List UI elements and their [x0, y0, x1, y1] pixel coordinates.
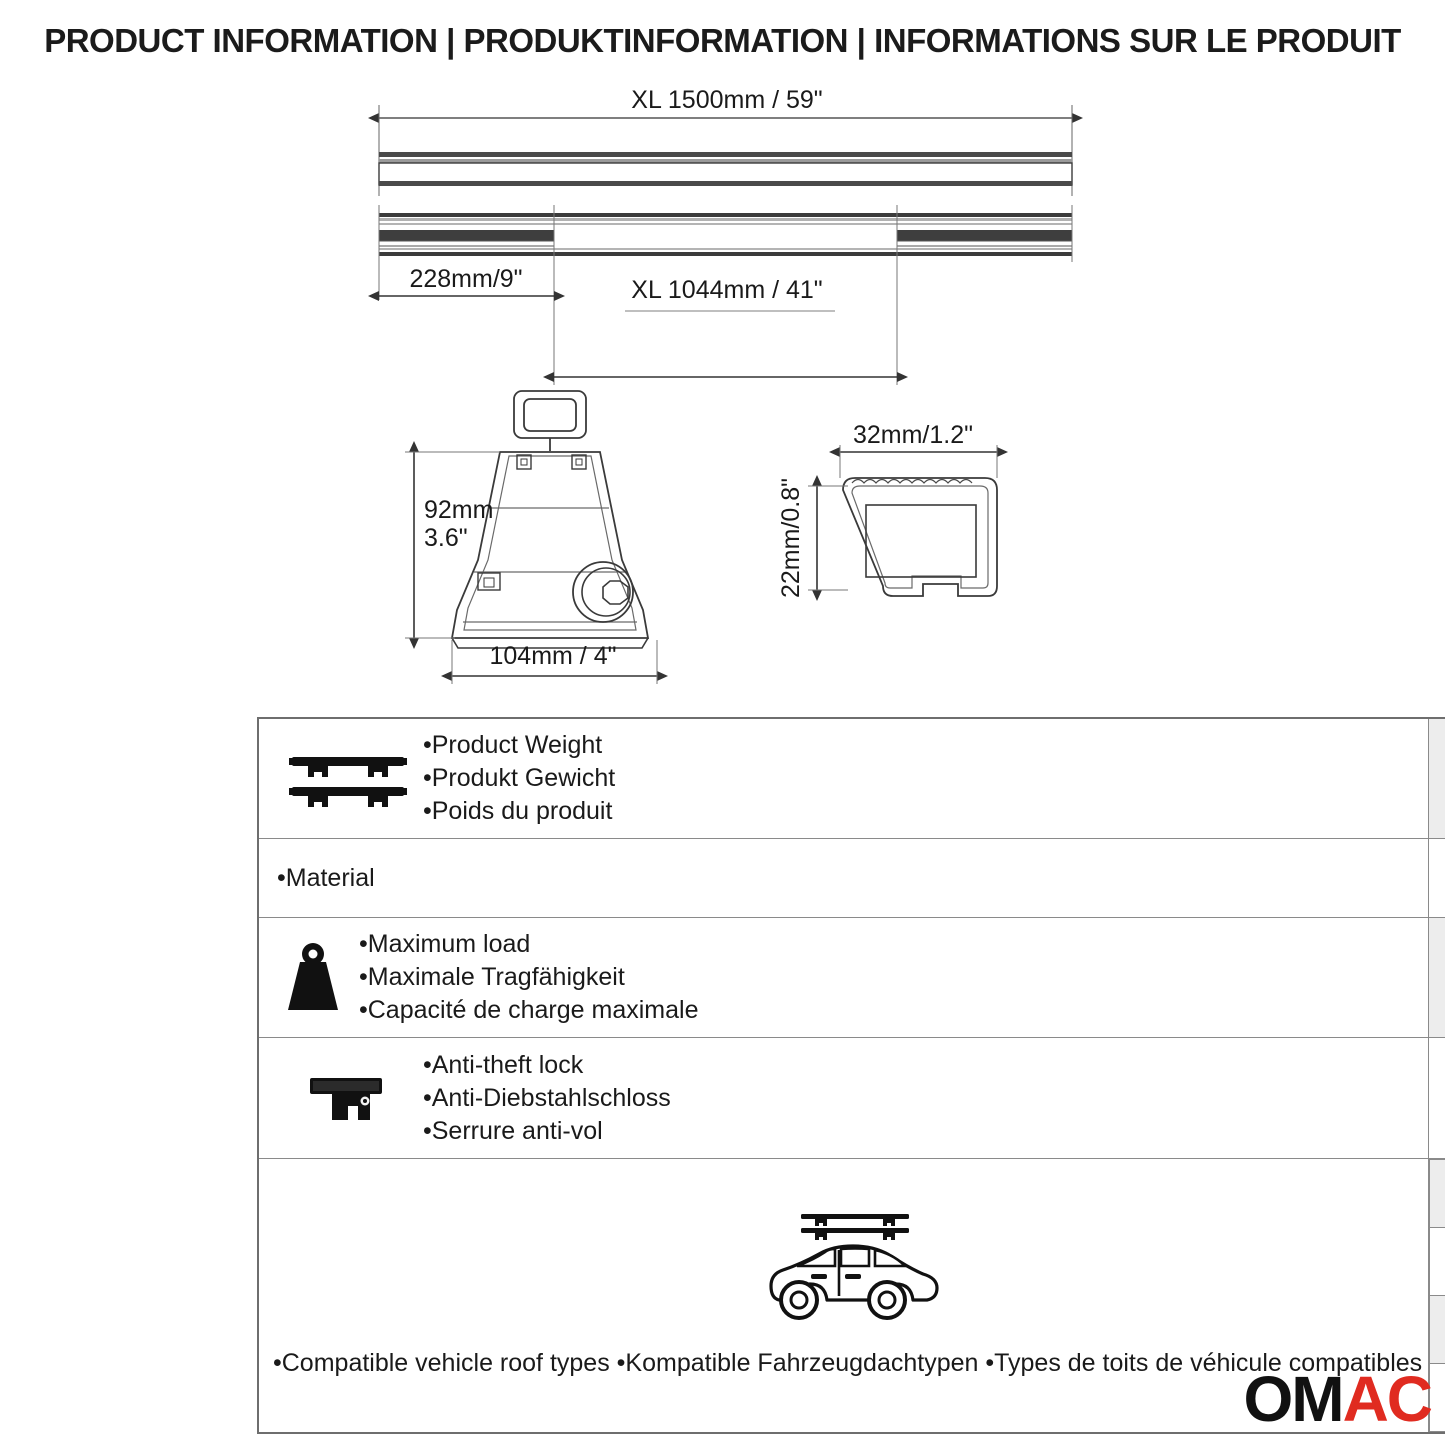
label-line: •Kompatible Fahrzeugdachtypen [617, 1349, 979, 1377]
value-text: 4,1kg / 9lbs [1429, 763, 1445, 794]
product-information-page: PRODUCT INFORMATION | PRODUKTINFORMATION… [0, 0, 1445, 1445]
row-label-product-weight: •Product Weight •Produkt Gewicht •Poids … [258, 718, 1429, 839]
lock-icon [273, 1068, 423, 1128]
omac-logo: OMAC [1243, 1367, 1431, 1431]
bar-length-dimension-text: XL 1500mm / 59" [631, 86, 822, 114]
foot-height-text-in: 3.6" [424, 524, 468, 552]
profile-height-dimension-text: 22mm/0.8" [777, 478, 805, 598]
foot-height-text-mm: 92mm [424, 496, 493, 524]
row-label-material: •Material [258, 839, 1429, 918]
roof-option-name: Raised rails [1430, 1160, 1445, 1228]
row-label-text: •Maximum load •Maximale Tragfähigkeit •C… [359, 928, 698, 1027]
car-with-rack-icon [753, 1208, 943, 1331]
label-line: •Maximum load [359, 928, 698, 961]
label-line: •Capacité de charge maximale [359, 994, 698, 1027]
row-label-text: •Product Weight •Produkt Gewicht •Poids … [423, 729, 615, 828]
logo-text-dark: OM [1243, 1363, 1342, 1435]
roof-types-options-cell: Raised rails ✗ Flush rails ✗ [1429, 1159, 1445, 1434]
row-value-anti-theft-lock: ✔ [1429, 1038, 1445, 1159]
roof-option-row: Fixed points ✗ [1430, 1364, 1445, 1432]
foot-width-dimension-text: 104mm / 4" [490, 642, 617, 670]
row-value-material: Steel [1429, 839, 1445, 918]
label-line: •Produkt Gewicht [423, 762, 615, 795]
roof-option-row: Smooth roof ✓ [1430, 1296, 1445, 1364]
row-value-product-weight: 4,1kg / 9lbs [1429, 718, 1445, 839]
inner-span-dimension-text: XL 1044mm / 41" [631, 276, 822, 304]
table-row: •Maximum load •Maximale Tragfähigkeit •C… [258, 918, 1445, 1038]
label-line: •Poids du produit [423, 795, 615, 828]
weight-icon [267, 942, 359, 1014]
crossbar-top-view [379, 213, 1072, 256]
label-line: •Serrure anti-vol [423, 1115, 671, 1148]
roof-option-name: Fixed points [1430, 1364, 1445, 1432]
end-section-dimension-text: 228mm/9" [409, 265, 522, 293]
value-text: max 50kg/110lbs [1429, 947, 1445, 1009]
table-row: •Material Steel [258, 839, 1445, 918]
profile-width-dimension-text: 32mm/1.2" [853, 421, 973, 449]
crossbar-side-view [379, 152, 1072, 186]
label-line: •Types de toits de véhicule [985, 1349, 1281, 1377]
checkmark-icon: ✔ [1429, 1067, 1445, 1129]
roof-types-table: Raised rails ✗ Flush rails ✗ [1429, 1159, 1445, 1432]
row-value-maximum-load: max 50kg/110lbs [1429, 918, 1445, 1038]
row-label-text: •Material [273, 862, 375, 895]
technical-drawing: XL 1500mm / 59" [0, 0, 1445, 705]
profile-cross-section [843, 478, 997, 596]
label-line: •Product Weight [423, 729, 615, 762]
row-label-text: •Anti-theft lock •Anti-Diebstahlschloss … [423, 1049, 671, 1148]
table-row: •Anti-theft lock •Anti-Diebstahlschloss … [258, 1038, 1445, 1159]
label-line: •Material [277, 862, 375, 895]
label-line: •Compatible vehicle roof types [273, 1349, 610, 1377]
roof-option-name: Flush rails [1430, 1228, 1445, 1296]
value-text: Steel [1429, 863, 1445, 894]
row-label-maximum-load: •Maximum load •Maximale Tragfähigkeit •C… [258, 918, 1429, 1038]
drawing-svg: XL 1500mm / 59" [0, 0, 1445, 705]
label-line: •Anti-theft lock [423, 1049, 671, 1082]
row-label-anti-theft-lock: •Anti-theft lock •Anti-Diebstahlschloss … [258, 1038, 1429, 1159]
roof-option-name: Smooth roof [1430, 1296, 1445, 1364]
label-line: •Anti-Diebstahlschloss [423, 1082, 671, 1115]
crossbars-icon [273, 749, 423, 809]
roof-option-row: Raised rails ✗ [1430, 1160, 1445, 1228]
specification-table: •Product Weight •Produkt Gewicht •Poids … [257, 717, 1445, 1434]
label-line: •Maximale Tragfähigkeit [359, 961, 698, 994]
logo-text-red: AC [1343, 1363, 1431, 1435]
roof-option-row: Flush rails ✗ [1430, 1228, 1445, 1296]
table-row: •Product Weight •Produkt Gewicht •Poids … [258, 718, 1445, 839]
